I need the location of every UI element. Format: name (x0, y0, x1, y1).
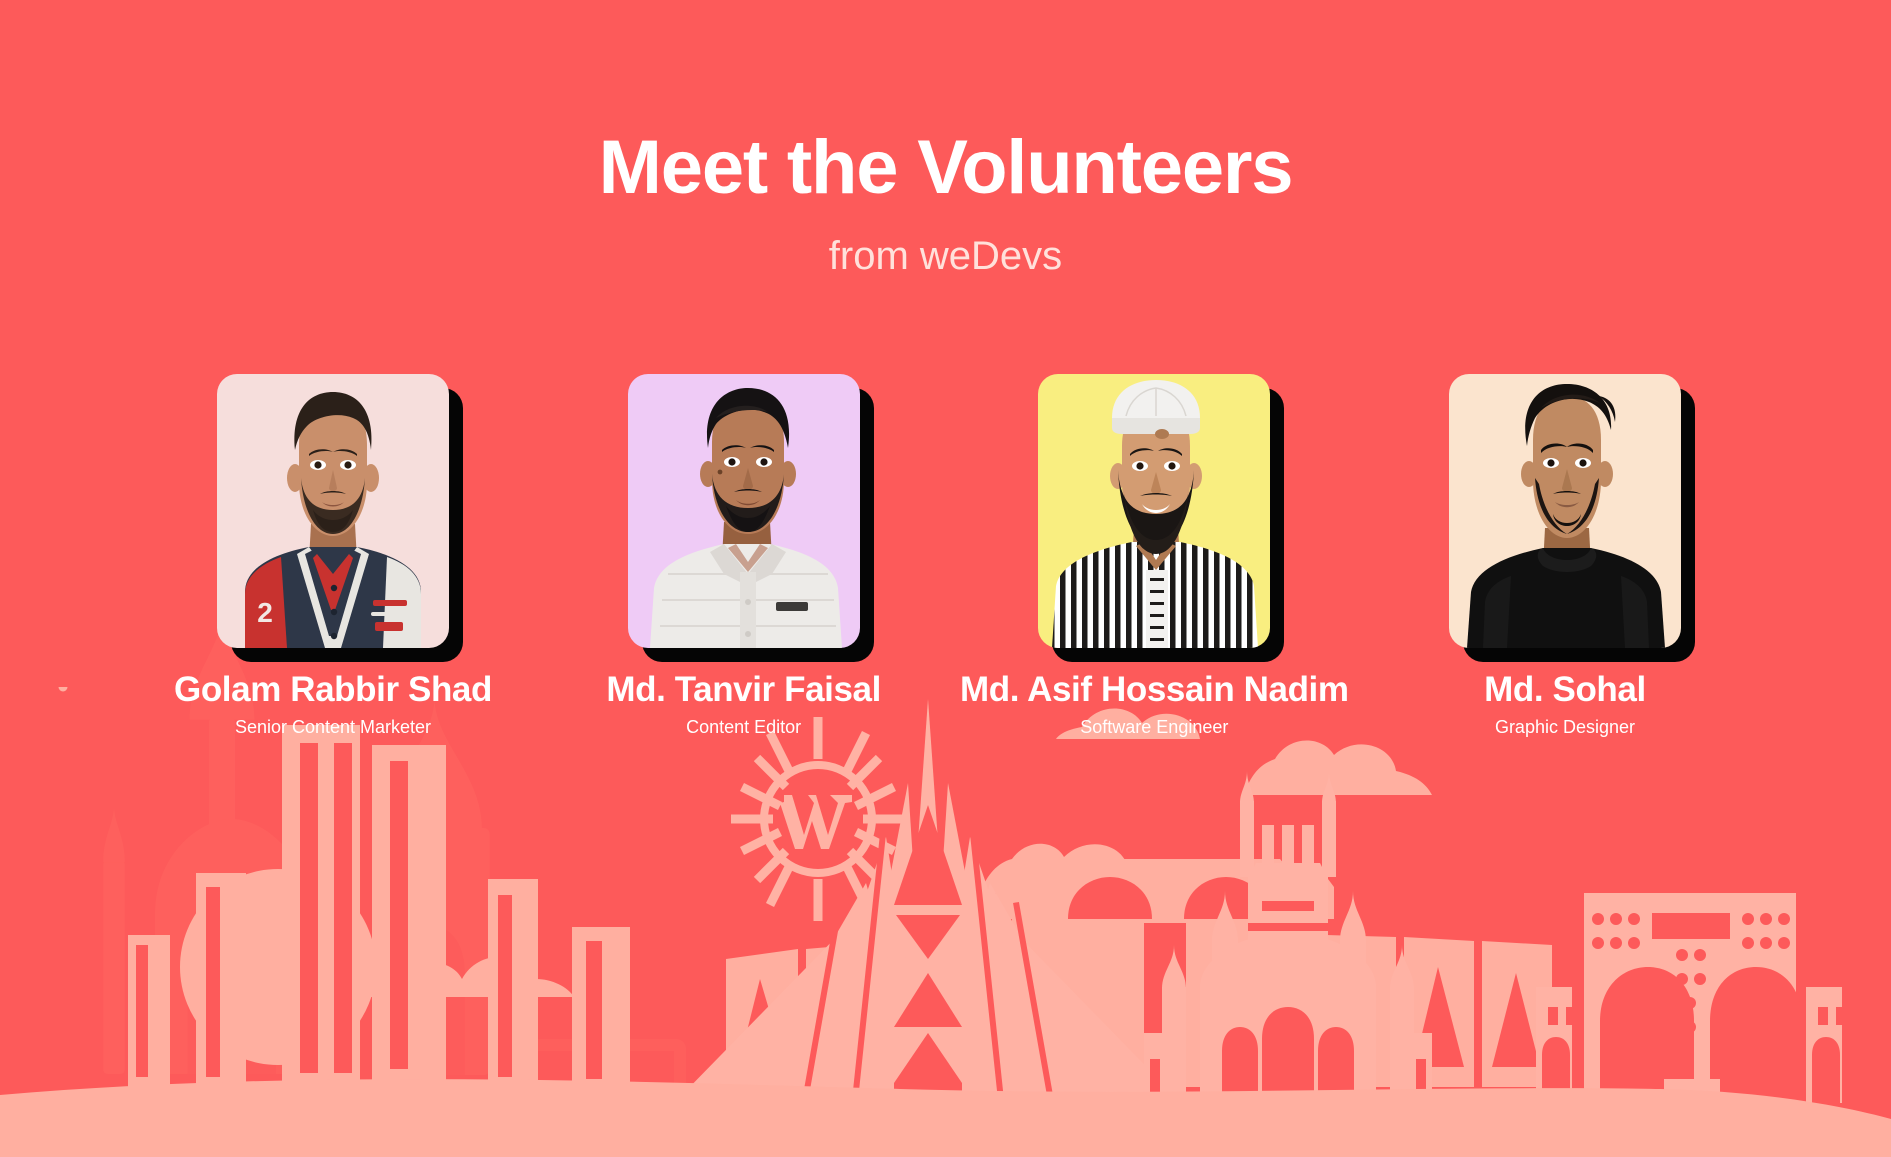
volunteer-name: Md. Sohal (1484, 670, 1646, 709)
volunteer-name: Md. Tanvir Faisal (606, 670, 881, 709)
volunteer-name: Md. Asif Hossain Nadim (960, 670, 1349, 709)
page-subtitle: from weDevs (0, 236, 1891, 276)
poster-canvas: Meet the Volunteers from weDevs (0, 0, 1891, 1157)
volunteer-grid: 2 (154, 374, 1744, 739)
photo-frame (1449, 374, 1681, 648)
volunteer-name: Golam Rabbir Shad (174, 670, 492, 709)
page-title: Meet the Volunteers (0, 130, 1891, 206)
volunteer-role: Software Engineer (1080, 717, 1228, 739)
volunteer-card[interactable]: 2 (154, 374, 512, 739)
svg-text:2: 2 (257, 597, 273, 628)
volunteer-role: Graphic Designer (1495, 717, 1635, 739)
volunteer-card[interactable]: Md. Asif Hossain Nadim Software Engineer (975, 374, 1333, 739)
photo-frame (628, 374, 860, 648)
photo-md-tanvir-faisal (628, 374, 860, 648)
volunteer-card[interactable]: Md. Sohal Graphic Designer (1386, 374, 1744, 739)
photo-frame (1038, 374, 1270, 648)
photo-md-asif-hossain-nadim (1038, 374, 1270, 648)
photo-golam-rabbir-shad: 2 (217, 374, 449, 648)
photo-frame: 2 (217, 374, 449, 648)
header-block: Meet the Volunteers from weDevs (0, 130, 1891, 276)
volunteer-card[interactable]: Md. Tanvir Faisal Content Editor (565, 374, 923, 739)
poster-content: Meet the Volunteers from weDevs (0, 0, 1891, 1157)
photo-md-sohal (1449, 374, 1681, 648)
volunteer-role: Content Editor (686, 717, 801, 739)
volunteer-role: Senior Content Marketer (235, 717, 431, 739)
